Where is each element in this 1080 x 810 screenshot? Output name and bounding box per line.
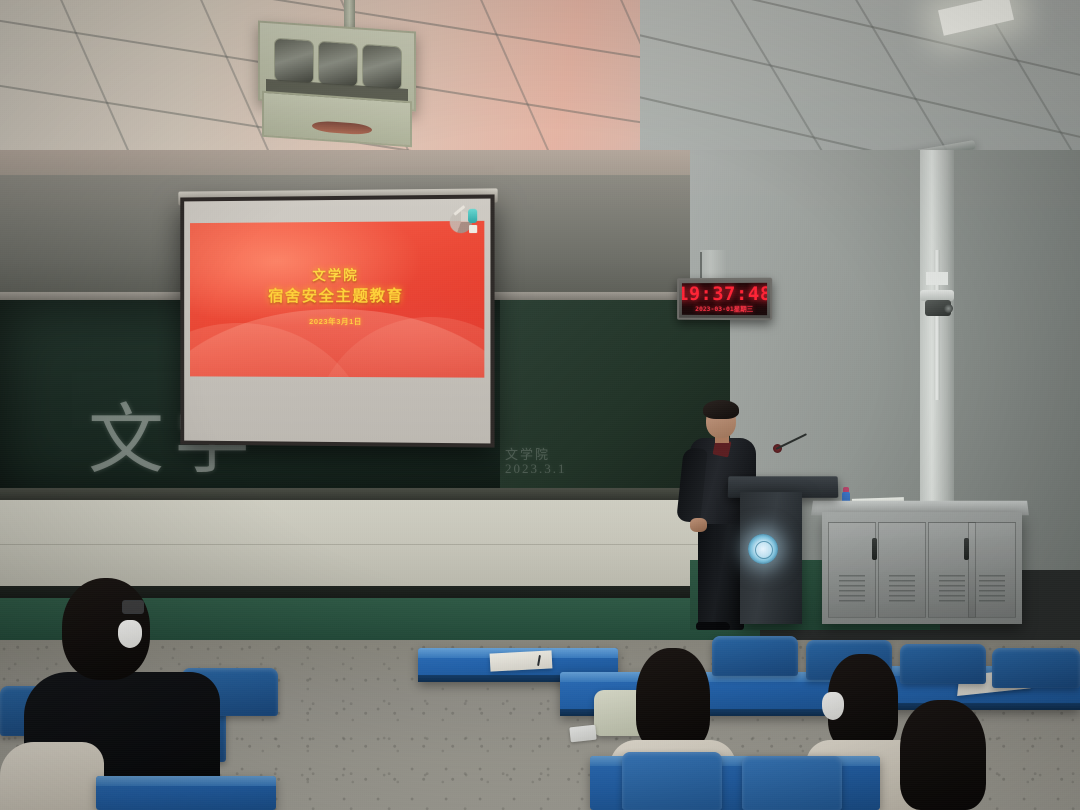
camera-lens-icon [944, 304, 953, 313]
student-center-hair [636, 648, 710, 750]
attendee-left-face-mask [118, 620, 142, 648]
led-clock-time: 19:37:48 [682, 285, 767, 304]
attendee-left-glasses [122, 600, 144, 614]
led-clock-face: 19:37:48 2023-03-01星期三 [682, 283, 767, 315]
slide-topic-title: 宿舍安全主题教育 [190, 284, 484, 307]
seat-back-right-1[interactable] [712, 636, 798, 676]
cabinet-handle-left[interactable] [872, 538, 877, 560]
classroom-photo-scene: 文学 文学院 2023.3.1 文学院 宿舍安全主题教育 2023年3月1日 [0, 0, 1080, 810]
seat-back-right-3[interactable] [900, 644, 986, 684]
desk-surface [96, 776, 276, 786]
presenter-hand [690, 518, 707, 532]
projection-screen-border: 文学院 宿舍安全主题教育 2023年3月1日 [180, 194, 494, 447]
cabinet-handle-right[interactable] [964, 538, 969, 560]
seat-front-center-1[interactable] [622, 752, 722, 810]
student-right-face-mask [822, 692, 844, 720]
wall-wainscot [0, 500, 740, 590]
desk-edge [880, 703, 1080, 710]
cabinet-door-1[interactable] [828, 522, 876, 618]
cabinet-vent-3 [939, 575, 965, 605]
university-seal-emblem [748, 534, 778, 564]
seat-back-right-4[interactable] [992, 648, 1080, 688]
projector-cage-window-2 [318, 41, 358, 88]
projection-screen: 文学院 宿舍安全主题教育 2023年3月1日 [180, 194, 494, 447]
presenter-hair [703, 400, 739, 419]
smartphone [569, 725, 596, 743]
cabinet-vent-4 [979, 575, 1005, 605]
cabinet-door-2[interactable] [878, 522, 926, 618]
student-far-right-hair [900, 700, 986, 810]
camera-label-tag [926, 272, 948, 285]
projector-cage-window-3 [362, 44, 402, 91]
seat-front-center-2[interactable] [742, 756, 842, 810]
projector-lens-slot [312, 120, 372, 135]
slide-org-title: 文学院 [190, 263, 484, 284]
led-clock: 19:37:48 2023-03-01星期三 [677, 278, 772, 321]
attendee-left-2-sweater [0, 742, 104, 810]
desk-row-front-left [96, 776, 276, 810]
equipment-cabinet [822, 512, 1022, 624]
slide-date: 2023年3月1日 [190, 316, 484, 327]
led-clock-hanging-wire [700, 252, 702, 278]
projector-cage-window-1 [274, 38, 314, 85]
open-notebook-mid [490, 650, 553, 671]
presenter-shoes [696, 622, 730, 630]
slide-annotation-toolbar[interactable] [448, 205, 483, 236]
slide-tool-square-icon[interactable] [469, 225, 477, 233]
cabinet-vent-1 [839, 575, 865, 605]
cabinet-vent-2 [889, 575, 915, 605]
highlighter-icon[interactable] [468, 209, 477, 223]
projection-screen-surface: 文学院 宿舍安全主题教育 2023年3月1日 [184, 199, 490, 444]
cabinet-door-4[interactable] [968, 522, 1016, 618]
presentation-slide: 文学院 宿舍安全主题教育 2023年3月1日 [190, 221, 484, 378]
led-clock-date: 2023-03-01星期三 [695, 306, 753, 313]
presenter-legs [698, 518, 744, 630]
